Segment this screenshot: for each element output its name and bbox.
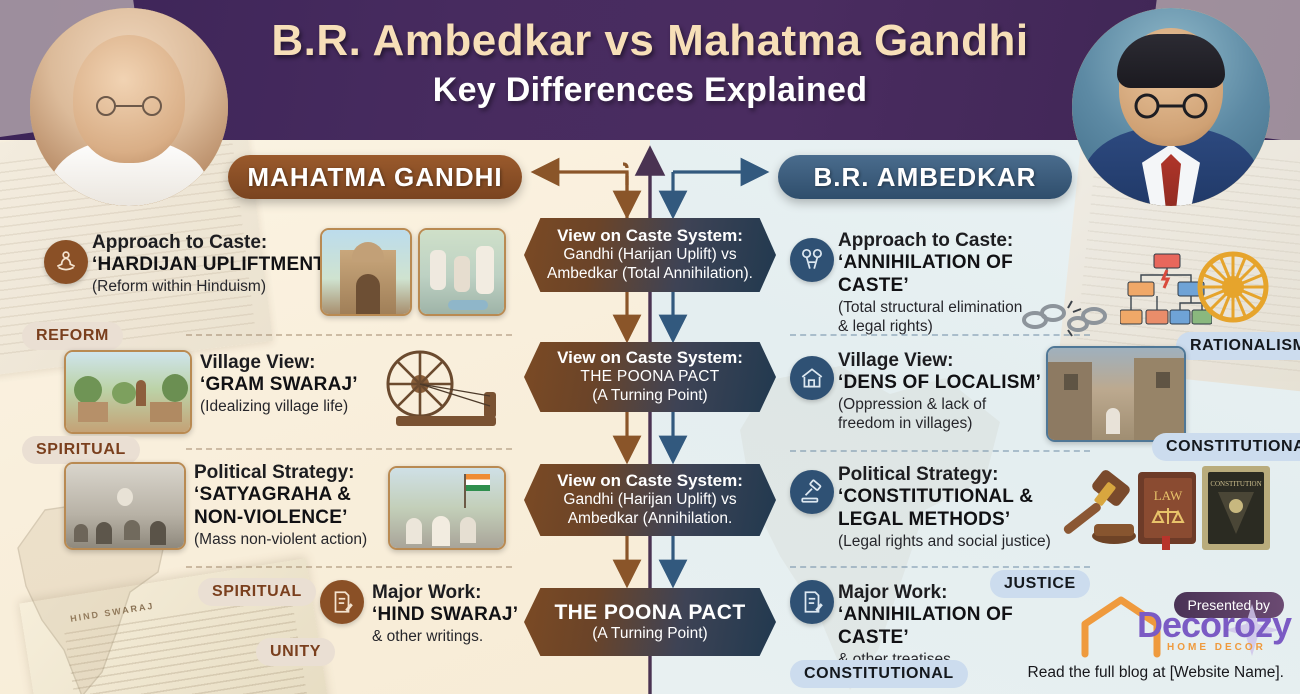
ambedkar-portrait-ring — [1072, 8, 1270, 206]
divider-left-3 — [186, 566, 512, 568]
row-keyword-a: ‘SATYAGRAHA & — [194, 484, 394, 507]
house-glyph — [799, 365, 825, 391]
divider-right-1 — [790, 334, 1090, 336]
tag-spiritual-1: SPIRITUAL — [22, 436, 140, 464]
row-note: (Reform within Hinduism) — [92, 277, 332, 296]
flow-node-sub2: Ambedkar (Annihilation. — [568, 510, 733, 529]
tag-reform: REFORM — [22, 322, 123, 350]
gavel-illustration-icon — [1056, 470, 1142, 550]
document-pen-glyph — [329, 589, 355, 615]
gandhi-crowd-photo — [64, 462, 186, 550]
banner-ambedkar-label: B.R. AMBEDKAR — [814, 162, 1037, 193]
handcuffs-glyph — [799, 247, 825, 273]
blog-cta-text: Read the full blog at [Website Name]. — [1028, 664, 1284, 682]
flow-node-sub1: THE POONA PACT — [580, 368, 719, 387]
gandhi-portrait-ring — [30, 8, 228, 206]
temple-gateway-photo — [320, 228, 412, 316]
row-note: (Mass non-violent action) — [194, 530, 394, 549]
tag-constitutional-2: CONSTITUTIONAL — [790, 660, 968, 688]
row-title: Approach to Caste: — [838, 230, 1088, 252]
charkha-spinning-wheel-icon — [378, 344, 506, 436]
salt-march-photo — [388, 466, 506, 550]
brand-tagline: HOME DECOR — [1167, 642, 1266, 653]
ashoka-chakra-icon — [1196, 250, 1270, 324]
gandhi-portrait — [30, 8, 228, 206]
gavel-glyph — [799, 479, 825, 505]
decorozy-logo[interactable]: Decorozy HOME DECOR — [1075, 596, 1290, 658]
flow-node-sub1: (A Turning Point) — [592, 625, 707, 644]
banner-br-ambedkar[interactable]: B.R. AMBEDKAR — [778, 155, 1072, 199]
row-keyword-b: LEGAL METHODS’ — [838, 509, 1088, 532]
row-gandhi-caste-text: Approach to Caste: ‘HARDIJAN UPLIFTMENT’… — [92, 232, 332, 296]
tag-spiritual-2: SPIRITUAL — [198, 578, 316, 606]
document-pen-glyph — [799, 589, 825, 615]
flow-node-sub2: (A Turning Point) — [592, 387, 707, 406]
svg-text:CONSTITUTION: CONSTITUTION — [1210, 480, 1261, 488]
broken-chain-icon — [1022, 296, 1112, 338]
tag-unity: UNITY — [256, 638, 335, 666]
meditation-glyph — [53, 249, 79, 275]
divider-left-1 — [186, 334, 512, 336]
house-icon — [790, 356, 834, 400]
village-scene-photo — [64, 350, 192, 434]
row-keyword: ‘ANNIHILATION OF CASTE’ — [838, 604, 1088, 650]
flow-node-3[interactable]: View on Caste System: Gandhi (Harijan Up… — [524, 464, 776, 536]
row-keyword-b: NON-VIOLENCE’ — [194, 507, 394, 530]
tag-justice: JUSTICE — [990, 570, 1090, 598]
ambedkar-portrait — [1072, 8, 1270, 206]
flow-node-title: THE POONA PACT — [554, 601, 745, 625]
row-note-b: freedom in villages) — [838, 414, 1058, 433]
broken-handcuffs-icon — [790, 238, 834, 282]
flow-node-title: View on Caste System: — [557, 226, 743, 246]
slum-street-photo — [1046, 346, 1186, 442]
row-keyword: ‘DENS OF LOCALISM’ — [838, 372, 1058, 395]
row-ambedkar-strategy-text: Political Strategy: ‘CONSTITUTIONAL & LE… — [838, 464, 1088, 551]
flow-node-sub1: Gandhi (Harijan Uplift) vs — [563, 246, 736, 265]
tag-constitutional-1: CONSTITUTIONAL — [1152, 433, 1300, 461]
document-pen-icon-left — [320, 580, 364, 624]
row-keyword: ‘HARDIJAN UPLIFTMENT’ — [92, 254, 332, 277]
row-title: Approach to Caste: — [92, 232, 332, 254]
flow-node-sub1: Gandhi (Harijan Uplift) vs — [563, 491, 736, 510]
flow-node-1[interactable]: View on Caste System: Gandhi (Harijan Up… — [524, 218, 776, 292]
divider-left-2 — [186, 448, 512, 450]
gavel-icon — [790, 470, 834, 514]
flow-node-title: View on Caste System: — [557, 348, 743, 368]
tag-rationalism: RATIONALISM — [1176, 332, 1300, 360]
row-gandhi-strategy-text: Political Strategy: ‘SATYAGRAHA & NON-VI… — [194, 462, 394, 549]
row-keyword: ‘ANNIHILATION OF CASTE’ — [838, 252, 1088, 298]
infographic-canvas: HIND SWARAJ B.R. Ambedkar vs Mahatma Gan… — [0, 0, 1300, 694]
flow-node-sub2: Ambedkar (Total Annihilation). — [547, 265, 753, 284]
divider-right-2 — [790, 450, 1090, 452]
banner-gandhi-label: MAHATMA GANDHI — [247, 162, 502, 193]
row-title: Political Strategy: — [838, 464, 1088, 486]
banner-mahatma-gandhi[interactable]: MAHATMA GANDHI — [228, 155, 522, 199]
flow-node-4[interactable]: THE POONA PACT (A Turning Point) — [524, 588, 776, 656]
water-pouring-ritual-photo — [418, 228, 506, 316]
flow-node-title: View on Caste System: — [557, 471, 743, 491]
row-note: (Legal rights and social justice) — [838, 532, 1088, 551]
law-book-icon: LAW — [1132, 466, 1206, 550]
document-pen-icon-right — [790, 580, 834, 624]
row-ambedkar-village-text: Village View: ‘DENS OF LOCALISM’ (Oppres… — [838, 350, 1058, 434]
row-note-a: (Oppression & lack of — [838, 395, 1058, 414]
constitution-book-icon: CONSTITUTION — [1198, 462, 1276, 554]
row-title: Political Strategy: — [194, 462, 394, 484]
paper-heading-text: HIND SWARAJ — [69, 601, 155, 624]
flow-node-2[interactable]: View on Caste System: THE POONA PACT (A … — [524, 342, 776, 412]
meditation-icon — [44, 240, 88, 284]
svg-text:LAW: LAW — [1154, 488, 1183, 503]
row-keyword-a: ‘CONSTITUTIONAL & — [838, 486, 1088, 509]
brand-name: Decorozy — [1137, 604, 1291, 646]
divider-right-3 — [790, 566, 1090, 568]
row-title: Village View: — [838, 350, 1058, 372]
